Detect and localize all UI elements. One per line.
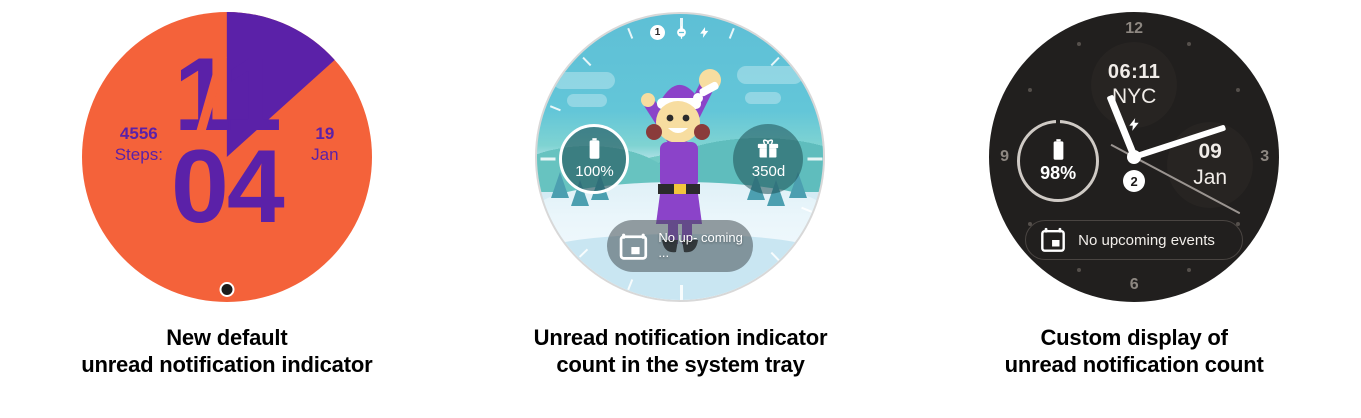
date-label: Jan — [290, 145, 360, 166]
battery-icon — [588, 138, 601, 160]
minute-tick — [583, 57, 592, 66]
minute-tick — [550, 105, 561, 111]
hour-pip — [1236, 88, 1240, 92]
minute-tick — [771, 57, 780, 66]
panel-new-default-indicator: 11 04 4556 Steps: 19 Jan New default unr… — [12, 0, 442, 379]
lightning-bolt-icon — [1127, 116, 1141, 133]
watch-face-winter-illustration[interactable]: 1 — [535, 12, 825, 302]
calendar-text-line-1: No up- — [658, 230, 697, 245]
steps-complication[interactable]: 4556 Steps: — [96, 124, 182, 165]
battery-icon — [1052, 139, 1065, 161]
cloud-decoration — [737, 66, 803, 84]
cloud-decoration — [553, 72, 615, 89]
charging-indicator — [1127, 116, 1141, 138]
lightning-bolt-icon — [698, 25, 711, 40]
do-not-disturb-icon[interactable] — [674, 25, 689, 40]
system-tray: 1 — [537, 25, 823, 40]
world-clock-city: NYC — [1112, 85, 1156, 109]
hour-numeral-3: 3 — [1260, 148, 1269, 166]
cloud-decoration — [745, 92, 781, 104]
cloud-decoration — [567, 94, 607, 107]
gift-value: 350d — [752, 163, 785, 180]
calendar-icon — [619, 231, 648, 261]
hour-pip — [1077, 268, 1081, 272]
calendar-text: No up- coming ... — [658, 231, 753, 261]
unread-notification-count-icon[interactable]: 1 — [650, 25, 665, 40]
hands-hub — [1127, 150, 1141, 164]
hour-numeral-6: 6 — [1130, 276, 1139, 294]
hour-pip — [1187, 42, 1191, 46]
battery-ring-gap — [1056, 120, 1060, 124]
watch-face-digital-orange[interactable]: 11 04 4556 Steps: 19 Jan — [82, 12, 372, 302]
calendar-complication[interactable]: No upcoming events — [1025, 220, 1243, 260]
gift-box-icon — [756, 138, 780, 160]
battery-complication[interactable]: 98% — [1017, 120, 1099, 202]
hour-numeral-12: 12 — [1125, 20, 1143, 38]
calendar-icon — [1040, 227, 1066, 253]
hour-tick — [808, 158, 823, 161]
steps-value: 4556 — [96, 124, 182, 145]
gift-complication[interactable]: 350d — [733, 124, 803, 194]
unread-notification-dot-icon[interactable] — [219, 282, 234, 297]
date-day: 09 — [1198, 140, 1221, 164]
caption-line-1: New default — [81, 324, 372, 351]
battery-complication[interactable]: 100% — [559, 124, 629, 194]
caption-line-1: Custom display of — [1005, 324, 1264, 351]
date-complication[interactable]: 19 Jan — [290, 124, 360, 165]
watch-face-dark-analog[interactable]: 12 3 6 9 06:11 NYC 09 Jan — [989, 12, 1279, 302]
panel-caption: Custom display of unread notification co… — [1005, 324, 1264, 379]
caption-line-1: Unread notification indicator — [534, 324, 828, 351]
calendar-complication[interactable]: No up- coming ... — [607, 220, 753, 272]
calendar-text: No upcoming events — [1078, 232, 1215, 249]
battery-value: 98% — [1040, 163, 1076, 184]
panel-caption: Unread notification indicator count in t… — [534, 324, 828, 379]
caption-line-2: unread notification count — [1005, 351, 1264, 378]
caption-line-2: count in the system tray — [534, 351, 828, 378]
hour-pip — [1187, 268, 1191, 272]
panel-custom-unread-count: 12 3 6 9 06:11 NYC 09 Jan — [919, 0, 1349, 379]
watch-face-gallery: 11 04 4556 Steps: 19 Jan New default unr… — [0, 0, 1361, 418]
hour-pip — [1028, 88, 1032, 92]
panel-caption: New default unread notification indicato… — [81, 324, 372, 379]
caption-line-2: unread notification indicator — [81, 351, 372, 378]
battery-value: 100% — [575, 163, 613, 180]
hour-tick — [541, 158, 556, 161]
panel-system-tray-count: 1 — [465, 0, 895, 379]
unread-notification-count-badge[interactable]: 2 — [1123, 170, 1145, 192]
steps-label: Steps: — [96, 145, 182, 166]
hour-pip — [1077, 42, 1081, 46]
world-clock-time: 06:11 — [1108, 61, 1161, 84]
date-month: Jan — [1193, 166, 1227, 190]
hour-numeral-9: 9 — [1000, 148, 1009, 166]
date-value: 19 — [290, 124, 360, 145]
